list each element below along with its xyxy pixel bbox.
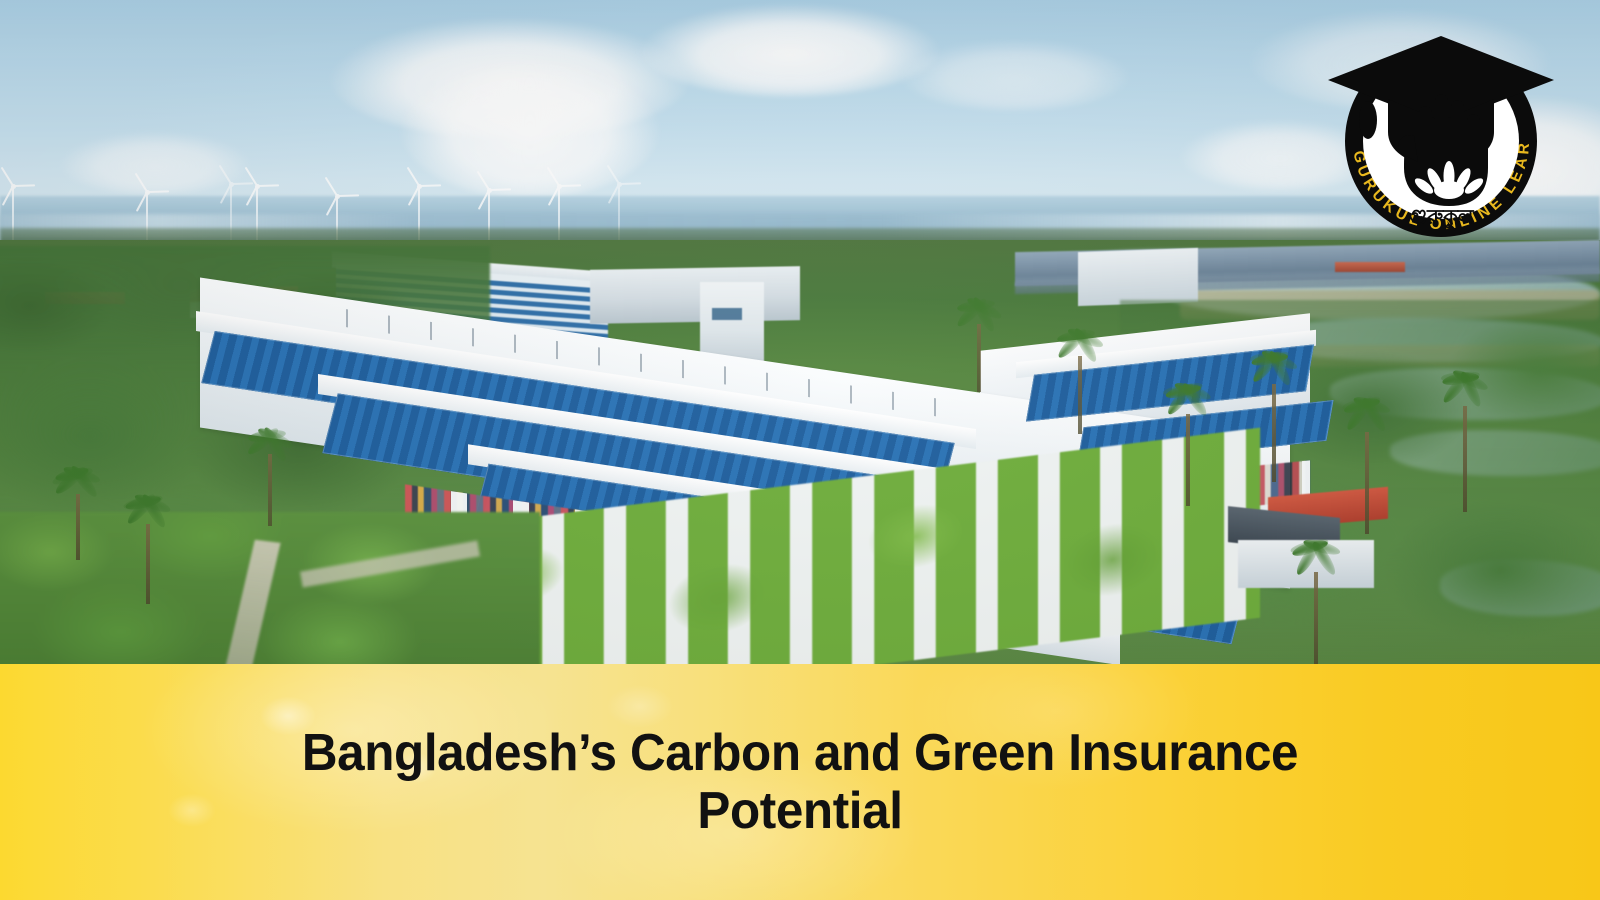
palm-tree xyxy=(1290,540,1342,664)
red-roof-house xyxy=(1335,262,1405,272)
palm-tree xyxy=(1344,398,1390,534)
logo-bengali-text: গুরুকুল xyxy=(1408,206,1474,230)
cloud xyxy=(640,4,940,96)
distant-building xyxy=(1078,248,1198,306)
page-title-line-1: Bangladesh’s Carbon and Green Insurance xyxy=(302,724,1298,782)
page-title: Bangladesh’s Carbon and Green Insurance … xyxy=(240,724,1361,840)
palm-tree xyxy=(960,300,998,392)
gurukul-online-learning-logo[interactable]: GURUKUL ONLINE LEARNING xyxy=(1322,28,1560,246)
palm-tree xyxy=(1442,372,1488,512)
palm-tree xyxy=(1252,352,1296,482)
palm-tree xyxy=(128,496,168,604)
tower-window xyxy=(712,308,742,320)
cloud xyxy=(900,40,1130,110)
palm-tree xyxy=(252,430,288,526)
palm-tree xyxy=(1060,330,1100,434)
palm-tree xyxy=(1166,384,1210,506)
page-title-line-2: Potential xyxy=(697,782,902,840)
palm-tree xyxy=(58,468,98,560)
title-banner: Bangladesh’s Carbon and Green Insurance … xyxy=(0,664,1600,900)
article-hero-card: GURUKUL ONLINE LEARNING xyxy=(0,0,1600,900)
white-building-wing xyxy=(590,266,800,324)
